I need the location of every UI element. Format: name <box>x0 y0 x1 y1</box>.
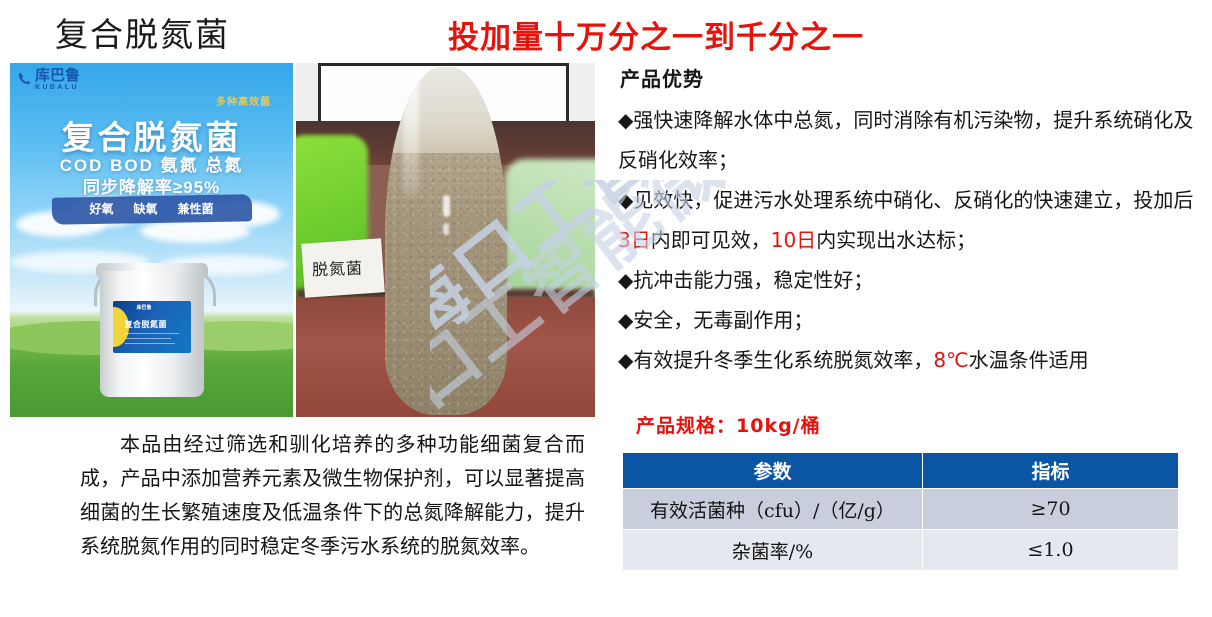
dosage-headline: 投加量十万分之一到千分之一 <box>448 12 864 57</box>
bucket-label: 库巴鲁 复合脱氮菌 <box>113 301 191 353</box>
advantage-text: ◆抗冲击能力强，稳定性好； <box>618 268 873 292</box>
advantage-text: ◆强快速降解水体中总氮，同时消除有机污染物，提升系统硝化及反硝化效率； <box>618 108 1193 172</box>
bottle-photo-image: 脱氮菌 <box>296 63 595 417</box>
poster-tag-list: 好氧 缺氧 兼性菌 <box>89 200 213 217</box>
poster-kicker: 多种高效菌 <box>216 93 271 108</box>
bottle-highlight <box>403 77 419 197</box>
advantage-item: ◆抗冲击能力强，稳定性好； <box>618 260 1198 300</box>
table-header-row: 参数 指标 <box>623 453 1179 489</box>
poster-brand-en: KUBALU <box>35 84 80 91</box>
table-row: 杂菌率/% ≤1.0 <box>623 530 1179 571</box>
sample-bottle <box>385 67 507 415</box>
poster-tag: 缺氧 <box>133 200 157 217</box>
advantage-item: ◆安全，无毒副作用； <box>618 300 1198 340</box>
phone-icon <box>17 71 32 86</box>
bucket-label-brand: 库巴鲁 <box>137 304 152 311</box>
advantage-text: 内即可见效， <box>651 228 771 252</box>
bottle-highlight-small <box>443 195 450 217</box>
advantage-text: 内实现出水达标； <box>816 228 976 252</box>
table-body: 有效活菌种（cfu）/（亿/g） ≥70 杂菌率/% ≤1.0 <box>623 489 1179 571</box>
poster-brand-logo: 库巴鲁 KUBALU <box>17 68 80 91</box>
bucket-label-name: 复合脱氮菌 <box>125 319 168 330</box>
advantages-title: 产品优势 <box>620 63 704 92</box>
advantage-text: ◆见效快，促进污水处理系统中硝化、反硝化的快速建立，投加后 <box>618 188 1193 212</box>
advantage-highlight: 8℃ <box>933 348 968 372</box>
table-cell-parameter: 有效活菌种（cfu）/（亿/g） <box>623 489 923 530</box>
advantage-item: ◆强快速降解水体中总氮，同时消除有机污染物，提升系统硝化及反硝化效率； <box>618 100 1198 180</box>
advantage-text: 水温条件适用 <box>969 348 1089 372</box>
advantage-highlight: 10日 <box>771 228 816 252</box>
product-bucket: 库巴鲁 复合脱氮菌 <box>92 249 212 399</box>
specification-table: 参数 指标 有效活菌种（cfu）/（亿/g） ≥70 杂菌率/% ≤1.0 <box>622 452 1179 571</box>
page-title: 复合脱氮菌 <box>55 8 230 56</box>
advantage-highlight: 3日 <box>618 228 651 252</box>
table-row: 有效活菌种（cfu）/（亿/g） ≥70 <box>623 489 1179 530</box>
advantage-text: ◆安全，无毒副作用； <box>618 308 813 332</box>
product-description: 本品由经过筛选和驯化培养的多种功能细菌复合而成，产品中添加营养元素及微生物保护剂… <box>80 427 585 563</box>
slide-root: 复合脱氮菌 投加量十万分之一到千分之一 库巴鲁 KUBALU 多种高效菌 复合脱… <box>0 0 1212 617</box>
table-header-parameter: 参数 <box>623 453 923 489</box>
advantages-list: ◆强快速降解水体中总氮，同时消除有机污染物，提升系统硝化及反硝化效率；◆见效快，… <box>618 100 1198 380</box>
advantage-item: ◆有效提升冬季生化系统脱氮效率，8℃水温条件适用 <box>618 340 1198 380</box>
product-poster-image: 库巴鲁 KUBALU 多种高效菌 复合脱氮菌 COD BOD 氨氮 总氮 同步降… <box>10 63 293 417</box>
specification-label: 产品规格：10kg/桶 <box>636 411 821 438</box>
poster-tag: 好氧 <box>89 200 113 217</box>
table-header-index: 指标 <box>923 453 1179 489</box>
bottle-highlight-small <box>443 223 449 235</box>
table-cell-value: ≥70 <box>923 489 1179 530</box>
table-cell-value: ≤1.0 <box>923 530 1179 571</box>
bottle-label-text: 脱氮菌 <box>312 255 364 281</box>
poster-brand-cn: 库巴鲁 <box>35 68 80 83</box>
bottle-handwritten-label: 脱氮菌 <box>301 238 385 297</box>
advantage-item: ◆见效快，促进污水处理系统中硝化、反硝化的快速建立，投加后3日内即可见效，10日… <box>618 180 1198 260</box>
advantage-text: ◆有效提升冬季生化系统脱氮效率， <box>618 348 933 372</box>
poster-tag: 兼性菌 <box>178 200 214 217</box>
table-cell-parameter: 杂菌率/% <box>623 530 923 571</box>
poster-brand-text: 库巴鲁 KUBALU <box>35 68 80 91</box>
